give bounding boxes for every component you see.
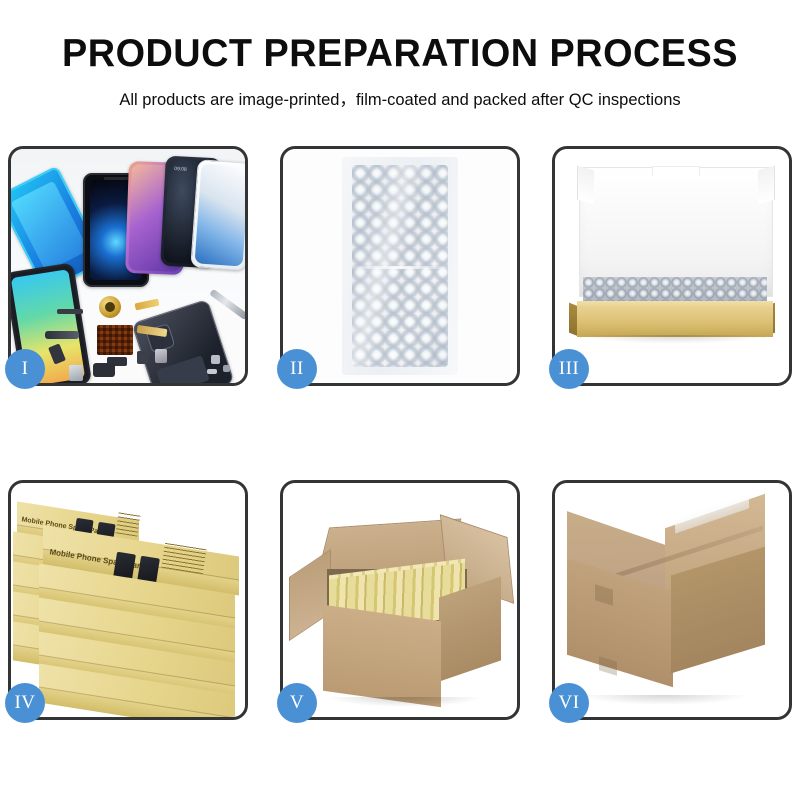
step-panel-sealed-carton[interactable]: VI [552, 480, 792, 720]
step-image-labeled-boxes: Mobile Phone Spare Parts [11, 483, 245, 717]
speaker-part-icon [99, 296, 121, 318]
process-grid: 09:08 [0, 146, 800, 720]
connector-icon [69, 365, 83, 381]
step-panel-phone-parts[interactable]: 09:08 [8, 146, 248, 386]
drop-shadow [327, 697, 483, 707]
step-panel-inner-box[interactable]: III [552, 146, 792, 386]
step-panel-labeled-boxes[interactable]: Mobile Phone Spare Parts [8, 480, 248, 720]
page-title: PRODUCT PREPARATION PROCESS [12, 34, 788, 73]
drop-shadow [581, 335, 769, 344]
process-row-2: Mobile Phone Spare Parts [0, 480, 800, 720]
step-image-bubble-wrap [283, 149, 517, 383]
step-image-open-carton [283, 483, 517, 717]
step-badge-2: II [277, 349, 317, 389]
step-image-inner-box [555, 149, 789, 383]
step-image-phone-parts: 09:08 [11, 149, 245, 383]
seam-line [352, 266, 448, 269]
box-spec-lines [115, 511, 140, 536]
phone-chassis-icon [131, 299, 234, 383]
small-part-icon [207, 369, 217, 374]
step-badge-1: I [5, 349, 45, 389]
clock-text: 09:08 [174, 166, 187, 173]
flex-cable-icon [135, 299, 160, 311]
process-row-1: 09:08 [0, 146, 800, 386]
box-tray-front [577, 309, 773, 337]
step-badge-6: VI [549, 683, 589, 723]
carton-front-panel [323, 605, 441, 708]
earpiece-part-icon [57, 309, 83, 314]
small-part-icon [223, 365, 230, 372]
lid-flap-right [758, 166, 775, 205]
small-part-icon [211, 355, 220, 364]
step-badge-4: IV [5, 683, 45, 723]
step-panel-open-carton[interactable]: V [280, 480, 520, 720]
step-image-sealed-carton [555, 483, 789, 717]
phone-white-icon [190, 159, 245, 271]
page-header: PRODUCT PREPARATION PROCESS All products… [0, 0, 800, 110]
page-subtitle: All products are image-printed，film-coat… [0, 86, 800, 110]
camera-part-icon [137, 351, 148, 364]
screw-set-icon [97, 325, 133, 355]
bubble-wrap-sheet [352, 165, 448, 367]
sim-tray-icon [155, 349, 167, 363]
step-panel-bubble-wrap[interactable]: II [280, 146, 520, 386]
lid-flap-left [577, 166, 594, 205]
step-badge-3: III [549, 349, 589, 389]
lid-tab [652, 166, 700, 176]
loudspeaker-icon [93, 363, 115, 377]
step-badge-5: V [277, 683, 317, 723]
screen-art [195, 163, 245, 266]
flex-cable-icon [45, 331, 79, 339]
drop-shadow [579, 695, 749, 705]
